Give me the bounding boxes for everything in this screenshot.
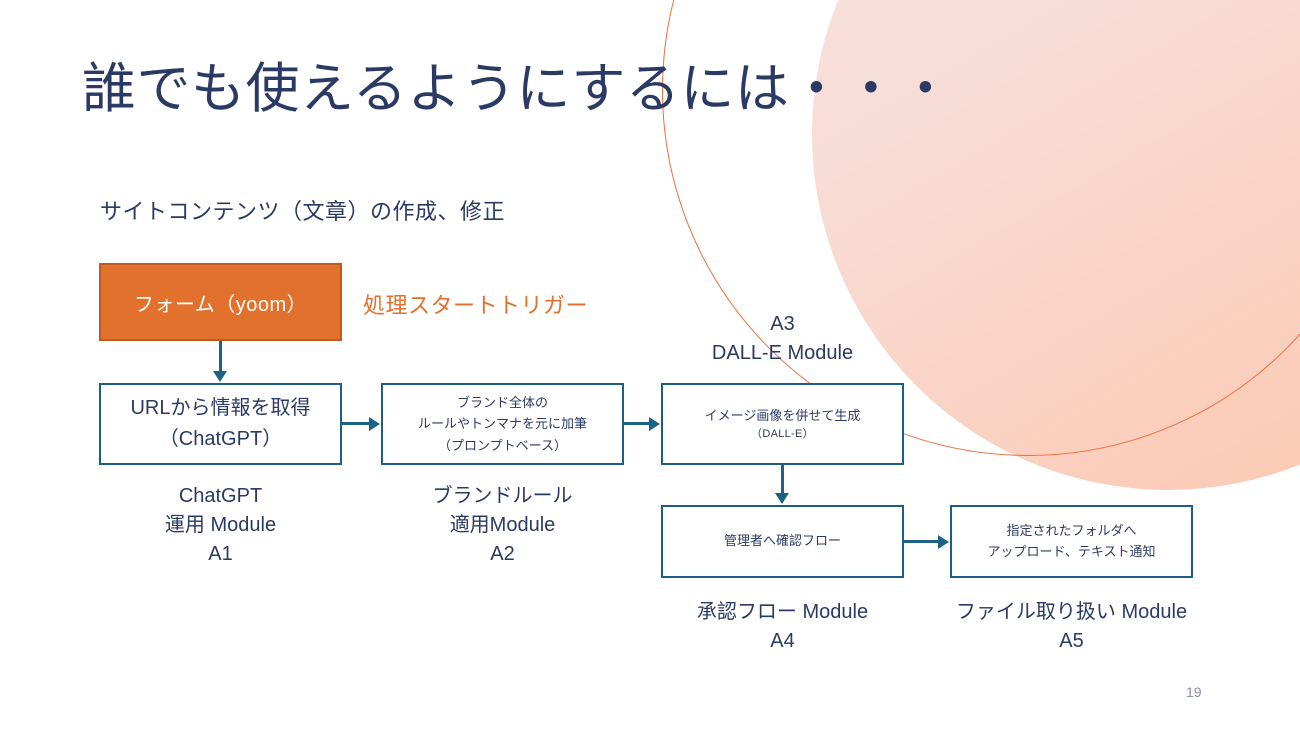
form-trigger-box: フォーム（yoom）: [99, 263, 342, 341]
caption-a1-line-1: ChatGPT: [99, 482, 342, 511]
slide-canvas: 誰でも使えるようにするには・・・ サイトコンテンツ（文章）の作成、修正 フォーム…: [0, 0, 1300, 731]
flow-box-a3: イメージ画像を併せて生成 （DALL-E）: [661, 383, 904, 465]
form-trigger-label: フォーム（yoom）: [134, 288, 307, 317]
flow-box-a3-line-2: （DALL-E）: [751, 426, 814, 444]
caption-a2-line-2: 適用Module: [381, 511, 624, 540]
flow-box-a1: URLから情報を取得 （ChatGPT）: [99, 383, 342, 465]
flow-box-a4: 管理者へ確認フロー: [661, 505, 904, 578]
connector-a2-to-a3-line: [624, 422, 650, 425]
caption-a1: ChatGPT 運用 Module A1: [99, 482, 342, 569]
caption-a1-line-3: A1: [99, 540, 342, 569]
arrow-down-icon-a3-to-a4: [775, 493, 789, 504]
connector-a4-to-a5-line: [904, 540, 939, 543]
flow-box-a5-line-2: アップロード、テキスト通知: [987, 542, 1155, 563]
caption-a3-line-2: DALL-E Module: [661, 339, 904, 368]
flow-box-a2-line-3: （プロンプトベース）: [438, 435, 567, 456]
trigger-note: 処理スタートトリガー: [363, 288, 588, 320]
flow-box-a2: ブランド全体の ルールやトンマナを元に加筆 （プロンプトベース）: [381, 383, 624, 465]
arrow-right-icon-a2-to-a3: [649, 417, 660, 431]
caption-a5: ファイル取り扱い Module A5: [925, 598, 1218, 656]
flow-box-a3-line-1: イメージ画像を併せて生成: [705, 405, 861, 426]
caption-a2-line-1: ブランドルール: [381, 482, 624, 511]
caption-a1-line-2: 運用 Module: [99, 511, 342, 540]
arrow-right-icon-a4-to-a5: [938, 535, 949, 549]
flow-box-a5: 指定されたフォルダへ アップロード、テキスト通知: [950, 505, 1193, 578]
arrow-right-icon-a1-to-a2: [369, 417, 380, 431]
caption-a5-line-1: ファイル取り扱い Module: [925, 598, 1218, 627]
page-subtitle: サイトコンテンツ（文章）の作成、修正: [100, 194, 505, 226]
caption-a4: 承認フロー Module A4: [646, 598, 919, 656]
flow-box-a1-line-1: URLから情報を取得: [130, 393, 310, 424]
caption-a3-line-1: A3: [661, 310, 904, 339]
flow-box-a4-line-1: 管理者へ確認フロー: [724, 531, 841, 552]
caption-a2: ブランドルール 適用Module A2: [381, 482, 624, 569]
caption-a3: A3 DALL-E Module: [661, 310, 904, 368]
connector-a3-to-a4-line: [781, 465, 784, 494]
page-number: 19: [1186, 684, 1202, 700]
flow-box-a2-line-1: ブランド全体の: [457, 392, 548, 413]
caption-a5-line-2: A5: [925, 627, 1218, 656]
caption-a2-line-3: A2: [381, 540, 624, 569]
caption-a4-line-2: A4: [646, 627, 919, 656]
connector-form-to-a1-line: [219, 341, 222, 372]
arrow-down-icon-form-to-a1: [213, 371, 227, 382]
caption-a4-line-1: 承認フロー Module: [646, 598, 919, 627]
connector-a1-to-a2-line: [342, 422, 370, 425]
flow-box-a1-line-2: （ChatGPT）: [159, 424, 282, 455]
flow-box-a2-line-2: ルールやトンマナを元に加筆: [418, 413, 587, 434]
page-title: 誰でも使えるようにするには・・・: [82, 58, 953, 122]
flow-box-a5-line-1: 指定されたフォルダへ: [1006, 521, 1136, 542]
